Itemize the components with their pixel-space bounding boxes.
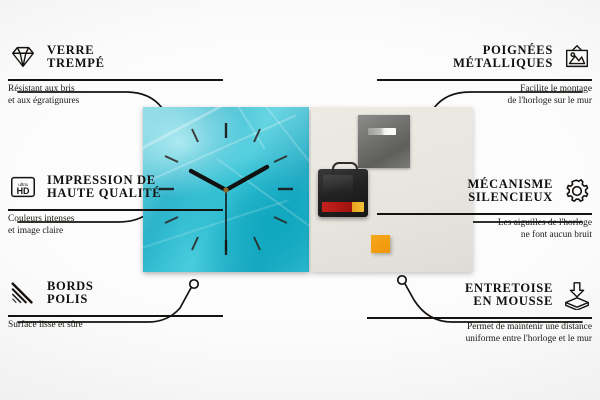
foam-spacer-icon bbox=[562, 280, 592, 310]
tick-2 bbox=[274, 156, 287, 162]
feature-header: ultra HD IMPRESSION DE HAUTE QUALITÉ bbox=[8, 168, 223, 206]
feature-subtitle: Facilite le montage de l'horloge sur le … bbox=[377, 84, 592, 107]
feature-title: MÉCANISME SILENCIEUX bbox=[468, 178, 553, 205]
feature-title: VERRE TREMPÉ bbox=[47, 44, 105, 71]
clock-center-hub bbox=[223, 187, 228, 192]
infographic-canvas: VERRE TREMPÉ Résistant aux bris et aux é… bbox=[0, 0, 600, 400]
feature-divider bbox=[8, 315, 223, 317]
feature-subtitle: Surface lisse et sûre bbox=[8, 320, 223, 331]
feature-header: POIGNÉES MÉTALLIQUES bbox=[377, 38, 592, 76]
polished-edges-icon bbox=[8, 278, 38, 308]
svg-text:HD: HD bbox=[17, 186, 30, 196]
feature-header: BORDS POLIS bbox=[8, 274, 223, 312]
tick-11 bbox=[192, 129, 198, 142]
feature-divider bbox=[8, 79, 223, 81]
gear-icon bbox=[562, 176, 592, 206]
feature-divider bbox=[377, 79, 592, 81]
feature-verre-trempe: VERRE TREMPÉ Résistant aux bris et aux é… bbox=[8, 38, 223, 107]
feature-subtitle: Permet de maintenir une distance uniform… bbox=[367, 322, 592, 345]
feature-title: POIGNÉES MÉTALLIQUES bbox=[453, 44, 553, 71]
diamond-icon bbox=[8, 42, 38, 72]
feature-mecanisme-silencieux: MÉCANISME SILENCIEUX Les aiguilles de l'… bbox=[377, 172, 592, 241]
tick-4 bbox=[274, 217, 287, 223]
mechanism-hanging-loop bbox=[332, 162, 358, 174]
feature-header: VERRE TREMPÉ bbox=[8, 38, 223, 76]
picture-hanger-icon bbox=[562, 42, 592, 72]
metal-hanger-plate bbox=[358, 115, 410, 168]
tick-10 bbox=[165, 156, 178, 162]
tick-1 bbox=[254, 129, 260, 142]
hanger-slot bbox=[368, 128, 396, 135]
feature-poignees-metalliques: POIGNÉES MÉTALLIQUES Facilite le montage… bbox=[377, 38, 592, 107]
feature-bords-polis: BORDS POLIS Surface lisse et sûre bbox=[8, 274, 223, 332]
mechanism-body-detail bbox=[323, 175, 353, 195]
feature-entretoise-en-mousse: ENTRETOISE EN MOUSSE Permet de maintenir… bbox=[367, 276, 592, 345]
feature-header: MÉCANISME SILENCIEUX bbox=[377, 172, 592, 210]
minute-hand bbox=[226, 167, 267, 190]
feature-title: BORDS POLIS bbox=[47, 280, 94, 307]
feature-divider bbox=[8, 209, 223, 211]
feature-divider bbox=[367, 317, 592, 319]
feature-subtitle: Couleurs intenses et image claire bbox=[8, 214, 223, 237]
tick-7 bbox=[192, 237, 198, 250]
feature-subtitle: Les aiguilles de l'horloge ne font aucun… bbox=[377, 218, 592, 241]
feature-subtitle: Résistant aux bris et aux égratignures bbox=[8, 84, 223, 107]
feature-divider bbox=[377, 213, 592, 215]
feature-title: IMPRESSION DE HAUTE QUALITÉ bbox=[47, 174, 161, 201]
clock-mechanism bbox=[318, 169, 368, 217]
tick-5 bbox=[254, 237, 260, 250]
ultra-hd-icon: ultra HD bbox=[8, 172, 38, 202]
mechanism-battery bbox=[322, 202, 364, 212]
feature-impression-haute-qualite: ultra HD IMPRESSION DE HAUTE QUALITÉ Cou… bbox=[8, 168, 223, 237]
feature-title: ENTRETOISE EN MOUSSE bbox=[465, 282, 553, 309]
feature-header: ENTRETOISE EN MOUSSE bbox=[367, 276, 592, 314]
